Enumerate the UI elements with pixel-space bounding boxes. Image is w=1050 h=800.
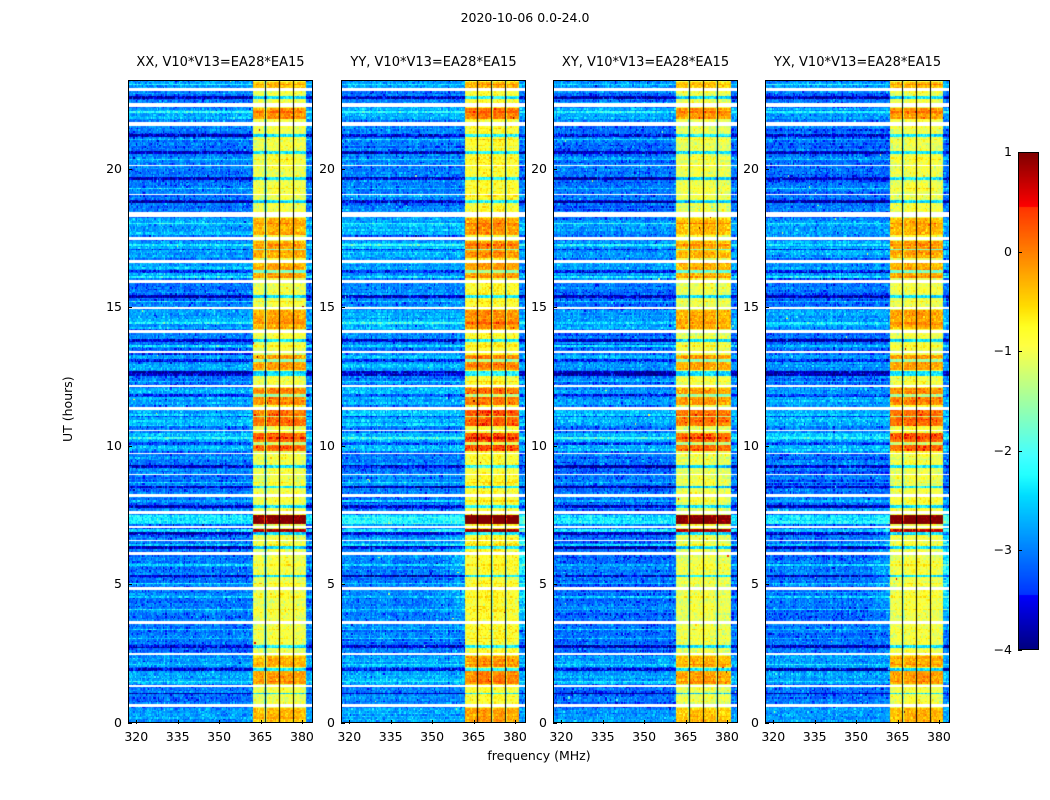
y-ticklabel: 10	[293, 438, 335, 453]
panel-title-yx: YX, V10*V13=EA28*EA15	[774, 55, 941, 70]
figure-suptitle: 2020-10-06 0.0-24.0	[0, 10, 1050, 25]
colorbar-ticklabel: −1	[970, 343, 1012, 358]
y-tickmark	[341, 446, 345, 447]
x-tickmark	[178, 720, 179, 724]
y-tickmark	[765, 446, 769, 447]
colorbar-tickmark	[1018, 252, 1022, 253]
y-tickmark	[341, 307, 345, 308]
y-ticklabel: 0	[505, 715, 547, 730]
y-ticklabel: 15	[80, 299, 122, 314]
colorbar-ticklabel: −2	[970, 443, 1012, 458]
y-tickmark	[765, 169, 769, 170]
y-ticklabel: 15	[293, 299, 335, 314]
y-tickmark	[128, 584, 132, 585]
y-tickmark	[128, 446, 132, 447]
y-tickmark	[128, 169, 132, 170]
y-tickmark	[553, 169, 557, 170]
y-tickmark	[128, 307, 132, 308]
colorbar-tickmark	[1018, 351, 1022, 352]
y-ticklabel: 20	[717, 161, 759, 176]
y-tickmark	[128, 723, 132, 724]
figure-canvas: 2020-10-06 0.0-24.0 XX, V10*V13=EA28*EA1…	[0, 0, 1050, 800]
waterfall-yy	[341, 80, 526, 723]
x-tickmark	[561, 720, 562, 724]
x-tickmark	[391, 720, 392, 724]
x-ticklabel: 380	[490, 729, 540, 744]
y-ticklabel: 15	[717, 299, 759, 314]
y-axis-label: UT (hours)	[60, 376, 75, 442]
x-tickmark	[939, 720, 940, 724]
y-ticklabel: 5	[293, 576, 335, 591]
x-tickmark	[898, 720, 899, 724]
x-tickmark	[603, 720, 604, 724]
x-tickmark	[432, 720, 433, 724]
y-tickmark	[341, 723, 345, 724]
y-tickmark	[765, 307, 769, 308]
colorbar-tickmark	[1018, 451, 1022, 452]
y-tickmark	[341, 169, 345, 170]
x-axis-label: frequency (MHz)	[128, 748, 950, 763]
waterfall-yx	[765, 80, 950, 723]
x-tickmark	[815, 720, 816, 724]
colorbar	[1018, 152, 1039, 650]
x-ticklabel: 380	[914, 729, 964, 744]
y-tickmark	[765, 584, 769, 585]
y-ticklabel: 0	[80, 715, 122, 730]
x-tickmark	[686, 720, 687, 724]
waterfall-xy	[553, 80, 738, 723]
x-ticklabel: 380	[702, 729, 752, 744]
panel-title-xy: XY, V10*V13=EA28*EA15	[562, 55, 729, 70]
panel-xx[interactable]: XX, V10*V13=EA28*EA15	[128, 80, 313, 723]
colorbar-ticklabel: 0	[970, 244, 1012, 259]
y-tickmark	[553, 584, 557, 585]
x-ticklabel: 380	[277, 729, 327, 744]
y-ticklabel: 20	[293, 161, 335, 176]
y-ticklabel: 20	[80, 161, 122, 176]
y-ticklabel: 10	[80, 438, 122, 453]
panel-title-yy: YY, V10*V13=EA28*EA15	[350, 55, 516, 70]
x-tickmark	[261, 720, 262, 724]
colorbar-ticklabel: 1	[970, 144, 1012, 159]
y-ticklabel: 10	[717, 438, 759, 453]
colorbar-ticklabel: −3	[970, 542, 1012, 557]
panel-xy[interactable]: XY, V10*V13=EA28*EA15	[553, 80, 738, 723]
panel-yy[interactable]: YY, V10*V13=EA28*EA15	[341, 80, 526, 723]
y-ticklabel: 0	[293, 715, 335, 730]
y-tickmark	[553, 723, 557, 724]
y-ticklabel: 5	[80, 576, 122, 591]
colorbar-frame	[1018, 152, 1039, 650]
y-ticklabel: 0	[717, 715, 759, 730]
y-ticklabel: 15	[505, 299, 547, 314]
y-tickmark	[553, 307, 557, 308]
y-ticklabel: 20	[505, 161, 547, 176]
y-tickmark	[341, 584, 345, 585]
x-tickmark	[773, 720, 774, 724]
panel-yx[interactable]: YX, V10*V13=EA28*EA15	[765, 80, 950, 723]
y-ticklabel: 5	[505, 576, 547, 591]
y-tickmark	[765, 723, 769, 724]
x-tickmark	[856, 720, 857, 724]
x-tickmark	[136, 720, 137, 724]
colorbar-tickmark	[1018, 550, 1022, 551]
colorbar-tickmark	[1018, 152, 1022, 153]
y-ticklabel: 10	[505, 438, 547, 453]
x-tickmark	[474, 720, 475, 724]
x-tickmark	[644, 720, 645, 724]
x-tickmark	[219, 720, 220, 724]
y-ticklabel: 5	[717, 576, 759, 591]
colorbar-ticklabel: −4	[970, 642, 1012, 657]
x-tickmark	[349, 720, 350, 724]
waterfall-xx	[128, 80, 313, 723]
y-tickmark	[553, 446, 557, 447]
panel-title-xx: XX, V10*V13=EA28*EA15	[136, 55, 304, 70]
colorbar-tickmark	[1018, 650, 1022, 651]
